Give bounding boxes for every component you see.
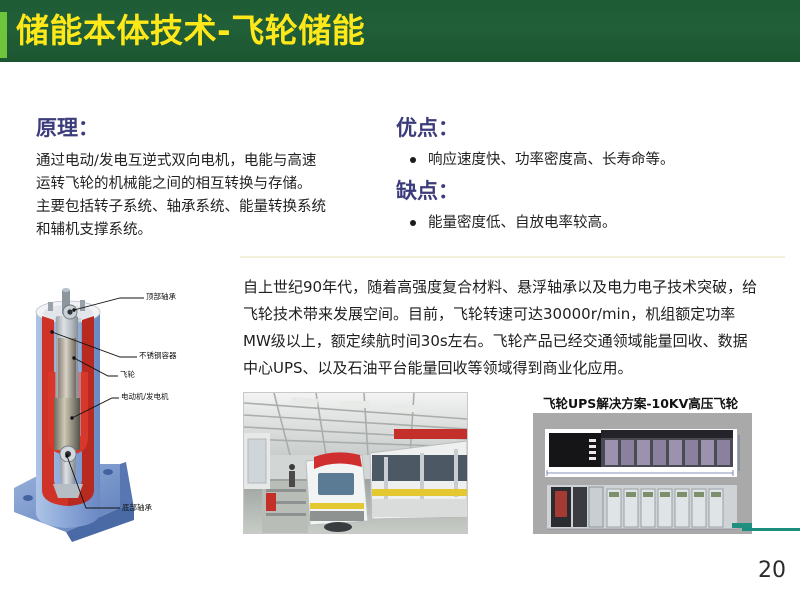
ups-diagram-svg: [533, 413, 752, 534]
flywheel-label-flywheel: 飞轮: [120, 369, 135, 380]
advantages-section: 优点： 响应速度快、功率密度高、长寿命等。: [396, 112, 786, 171]
flywheel-label-motor-generator: 电动机/发电机: [121, 391, 169, 402]
train-side-lower: [372, 499, 467, 517]
list-item: 响应速度快、功率密度高、长寿命等。: [396, 149, 786, 171]
ups-caption: 飞轮UPS解决方案-10KV高压飞轮: [543, 393, 738, 412]
bullet-dot-icon: [410, 157, 416, 163]
bolt-hole: [23, 495, 33, 501]
flywheel-cutaway-diagram: 顶部轴承 不锈钢容器 飞轮 电动机/发电机 底部轴承: [8, 276, 236, 546]
motor-generator: [54, 398, 80, 450]
disadvantages-section: 缺点： 能量密度低、自放电率较高。: [396, 175, 786, 234]
advantages-heading: 优点：: [396, 112, 786, 142]
bullet-dot-icon: [410, 220, 416, 226]
flywheel-ups-solution-image: 飞轮UPS解决方案-10KV高压飞轮: [533, 390, 752, 534]
paragraph-line: 飞轮技术带来发展空间。目前，飞轮转速可达30000r/min，机组额定功率: [243, 301, 788, 328]
train-windshield: [318, 473, 354, 495]
window: [248, 439, 266, 483]
disadvantages-heading: 缺点：: [396, 175, 786, 205]
train-side-yellow-band: [372, 489, 467, 496]
principle-line: 通过电动/发电互逆式双向电机，电能与高速: [36, 150, 386, 173]
description-paragraph: 自上世纪90年代，随着高强度复合材料、悬浮轴承以及电力电子技术突破，给 飞轮技术…: [243, 274, 788, 382]
ups-top-rail: [601, 430, 733, 438]
metro-train-depot-photo: [243, 392, 468, 534]
principle-line: 主要包括转子系统、轴承系统、能量转换系统: [36, 196, 386, 219]
section-divider: [240, 256, 785, 258]
bolt-hole: [103, 469, 113, 475]
flywheel-label-top-bearing: 顶部轴承: [146, 291, 176, 302]
principle-line: 和辅机支撑系统。: [36, 219, 386, 242]
title-accent-bar: [0, 12, 7, 58]
ups-lower-panel-red: [555, 491, 567, 517]
disadvantage-text: 能量密度低、自放电率较高。: [428, 212, 617, 234]
paragraph-line: MW级以上，额定续航时间30s左右。飞轮产品已经交通领域能量回收、数据: [243, 328, 788, 355]
ups-lower-cabinet-b: [573, 487, 587, 527]
flywheel-label-steel-vessel: 不锈钢容器: [139, 350, 177, 361]
paragraph-line: 自上世纪90年代，随着高强度复合材料、悬浮轴承以及电力电子技术突破，给: [243, 274, 788, 301]
slide-title-bar: 储能本体技术-飞轮储能: [0, 0, 800, 62]
principle-heading: 原理：: [36, 112, 386, 142]
train-photo-svg: [244, 393, 467, 533]
train-yellow-band: [310, 503, 364, 509]
advantage-text: 响应速度快、功率密度高、长寿命等。: [428, 149, 675, 171]
top-fitting: [80, 300, 85, 311]
fire-cabinet: [266, 493, 276, 511]
bottom-pedestal: [53, 484, 83, 498]
page-number: 20: [758, 558, 786, 583]
paragraph-line: 中心UPS、以及石油平台能量回收等领域得到商业化应用。: [243, 355, 788, 382]
principle-body: 通过电动/发电互逆式双向电机，电能与高速 运转飞轮的机械能之间的相互转换与存储。…: [36, 150, 386, 242]
train-coupler: [324, 522, 352, 532]
principle-line: 运转飞轮的机械能之间的相互转换与存储。: [36, 173, 386, 196]
top-bearing-core: [67, 309, 72, 314]
person-body: [289, 471, 295, 487]
list-item: 能量密度低、自放电率较高。: [396, 212, 786, 234]
flywheel-core: [58, 338, 76, 398]
top-fitting: [48, 302, 53, 311]
train-skirt: [310, 511, 364, 521]
ups-lower-cabinet-c: [589, 487, 603, 527]
principle-section: 原理： 通过电动/发电互逆式双向电机，电能与高速 运转飞轮的机械能之间的相互转换…: [36, 112, 386, 242]
top-shaft-cap: [62, 288, 70, 292]
ups-control-cabinet: [549, 433, 601, 467]
overhead-red-beam: [394, 429, 467, 439]
bottom-accent-rule: [742, 528, 800, 531]
person-head: [289, 464, 295, 470]
flywheel-label-bottom-bearing: 底部轴承: [122, 502, 152, 513]
page-title: 储能本体技术-飞轮储能: [16, 8, 365, 54]
